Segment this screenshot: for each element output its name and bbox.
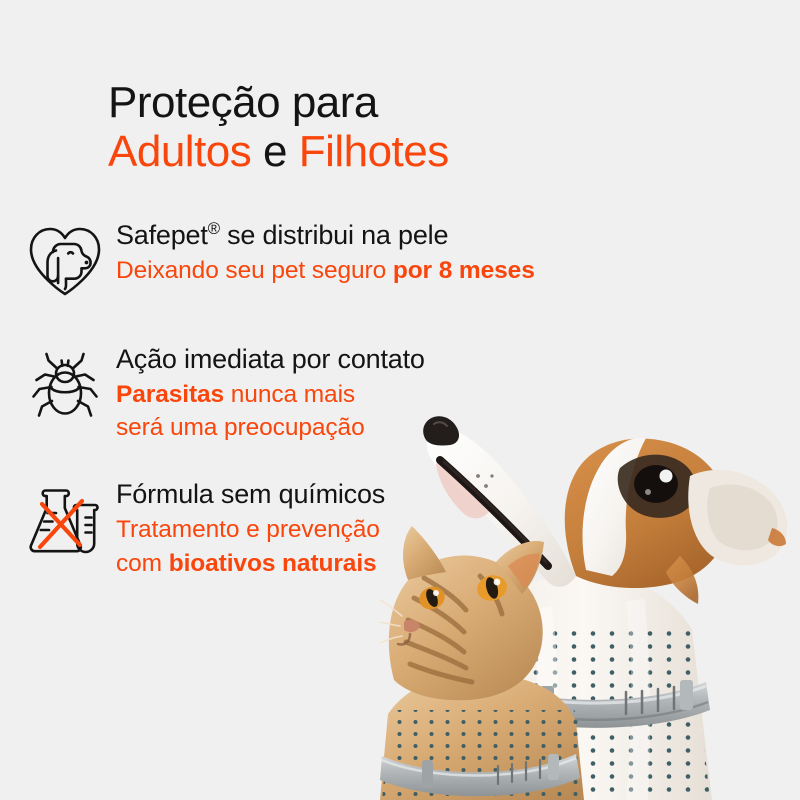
feature-item-immediate-action: Ação imediata por contato Parasitas nunc… bbox=[0, 342, 800, 445]
feature-title: Ação imediata por contato bbox=[116, 342, 425, 378]
feature-subtitle-bold: por 8 meses bbox=[393, 257, 535, 284]
no-chemicals-flask-icon bbox=[22, 477, 108, 561]
feature-item-skin-distribution: Safepet® se distribui na pele Deixando s… bbox=[0, 218, 800, 302]
headline-filhotes: Filhotes bbox=[299, 127, 449, 176]
tick-parasite-icon bbox=[22, 342, 108, 426]
feature-subtitle-regular: com bbox=[116, 550, 169, 577]
feature-title: Safepet® se distribui na pele bbox=[116, 218, 535, 254]
feature-text-block: Fórmula sem químicos Tratamento e preven… bbox=[108, 477, 385, 580]
feature-subtitle-bold: Parasitas bbox=[116, 381, 224, 408]
feature-title-brand: Safepet bbox=[116, 220, 208, 250]
headline-line-1: Proteção para bbox=[108, 78, 449, 127]
headline-line-2: Adultos e Filhotes bbox=[108, 127, 449, 176]
advertisement-root: Proteção para Adultos e Filhotes bbox=[0, 0, 800, 800]
feature-subtitle-line-2: com bioativos naturais bbox=[116, 547, 385, 581]
feature-subtitle-line: Parasitas nunca mais bbox=[116, 378, 425, 412]
feature-subtitle-line-2: será uma preocupação bbox=[116, 411, 425, 445]
feature-subtitle-line: Deixando seu pet seguro por 8 meses bbox=[116, 254, 535, 288]
headline-adultos: Adultos bbox=[108, 127, 251, 176]
headline: Proteção para Adultos e Filhotes bbox=[108, 78, 449, 177]
feature-list: Safepet® se distribui na pele Deixando s… bbox=[0, 218, 800, 614]
headline-conjunction: e bbox=[251, 127, 298, 176]
feature-subtitle-bold: bioativos naturais bbox=[169, 550, 377, 577]
feature-text-block: Safepet® se distribui na pele Deixando s… bbox=[108, 218, 535, 287]
feature-title: Fórmula sem químicos bbox=[116, 477, 385, 513]
feature-subtitle-line: Tratamento e prevenção bbox=[116, 513, 385, 547]
registered-trademark-icon: ® bbox=[208, 219, 220, 238]
heart-dog-icon bbox=[22, 218, 108, 302]
feature-item-no-chemicals: Fórmula sem químicos Tratamento e preven… bbox=[0, 477, 800, 580]
feature-subtitle-regular: Deixando seu pet seguro bbox=[116, 257, 393, 284]
feature-text-block: Ação imediata por contato Parasitas nunc… bbox=[108, 342, 425, 445]
feature-subtitle-regular: nunca mais bbox=[224, 381, 355, 408]
feature-title-rest: se distribui na pele bbox=[220, 220, 448, 250]
